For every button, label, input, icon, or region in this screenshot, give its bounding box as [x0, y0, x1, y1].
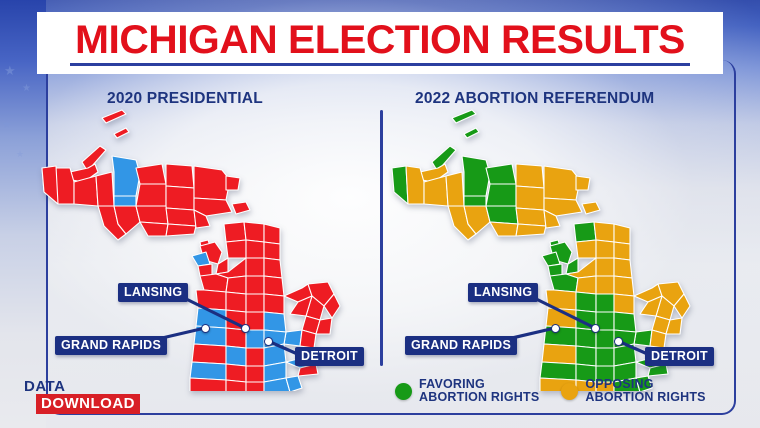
legend-label-opposing: OPPOSING ABORTION RIGHTS: [585, 378, 705, 404]
city-dot-detroit[interactable]: [264, 337, 273, 346]
legend-label-favoring: FAVORING ABORTION RIGHTS: [419, 378, 539, 404]
callout-detroit[interactable]: DETROIT: [295, 347, 364, 366]
map-legend: FAVORING ABORTION RIGHTS OPPOSING ABORTI…: [395, 378, 706, 404]
city-dot-grand-rapids[interactable]: [551, 324, 560, 333]
star-icon: ★: [16, 150, 24, 159]
star-icon: ★: [4, 64, 16, 77]
title-banner: MICHIGAN ELECTION RESULTS: [37, 12, 723, 74]
vertical-divider: [380, 110, 383, 366]
legend-swatch-green-icon: [395, 383, 412, 400]
star-icon: ★: [22, 84, 31, 94]
city-dot-detroit[interactable]: [614, 337, 623, 346]
city-dot-lansing[interactable]: [241, 324, 250, 333]
callout-lansing[interactable]: LANSING: [118, 283, 188, 302]
title-underline: [70, 63, 690, 66]
callout-grand-rapids[interactable]: GRAND RAPIDS: [405, 336, 517, 355]
brand-line-download: DOWNLOAD: [36, 394, 140, 414]
map-presidential-2020[interactable]: LANSING GRAND RAPIDS DETROIT: [40, 106, 370, 391]
legend-item-favoring: FAVORING ABORTION RIGHTS: [395, 378, 539, 404]
map-abortion-referendum-2022[interactable]: LANSING GRAND RAPIDS DETROIT: [390, 106, 720, 391]
city-dot-grand-rapids[interactable]: [201, 324, 210, 333]
callout-grand-rapids[interactable]: GRAND RAPIDS: [55, 336, 167, 355]
star-icon: ★: [2, 120, 12, 131]
callout-lansing[interactable]: LANSING: [468, 283, 538, 302]
infographic-canvas: ★ ★ ★ ★ MICHIGAN ELECTION RESULTS 2020 P…: [0, 0, 760, 428]
legend-label-opposing-line1: OPPOSING: [585, 377, 653, 391]
legend-label-favoring-line1: FAVORING: [419, 377, 485, 391]
brand-logo: DATA DOWNLOAD: [24, 378, 140, 414]
legend-swatch-gold-icon: [561, 383, 578, 400]
city-dot-lansing[interactable]: [591, 324, 600, 333]
legend-label-favoring-line2: ABORTION RIGHTS: [419, 390, 539, 404]
legend-label-opposing-line2: ABORTION RIGHTS: [585, 390, 705, 404]
brand-line-data: DATA: [24, 378, 140, 395]
callout-detroit[interactable]: DETROIT: [645, 347, 714, 366]
legend-item-opposing: OPPOSING ABORTION RIGHTS: [561, 378, 705, 404]
page-title: MICHIGAN ELECTION RESULTS: [75, 20, 685, 60]
